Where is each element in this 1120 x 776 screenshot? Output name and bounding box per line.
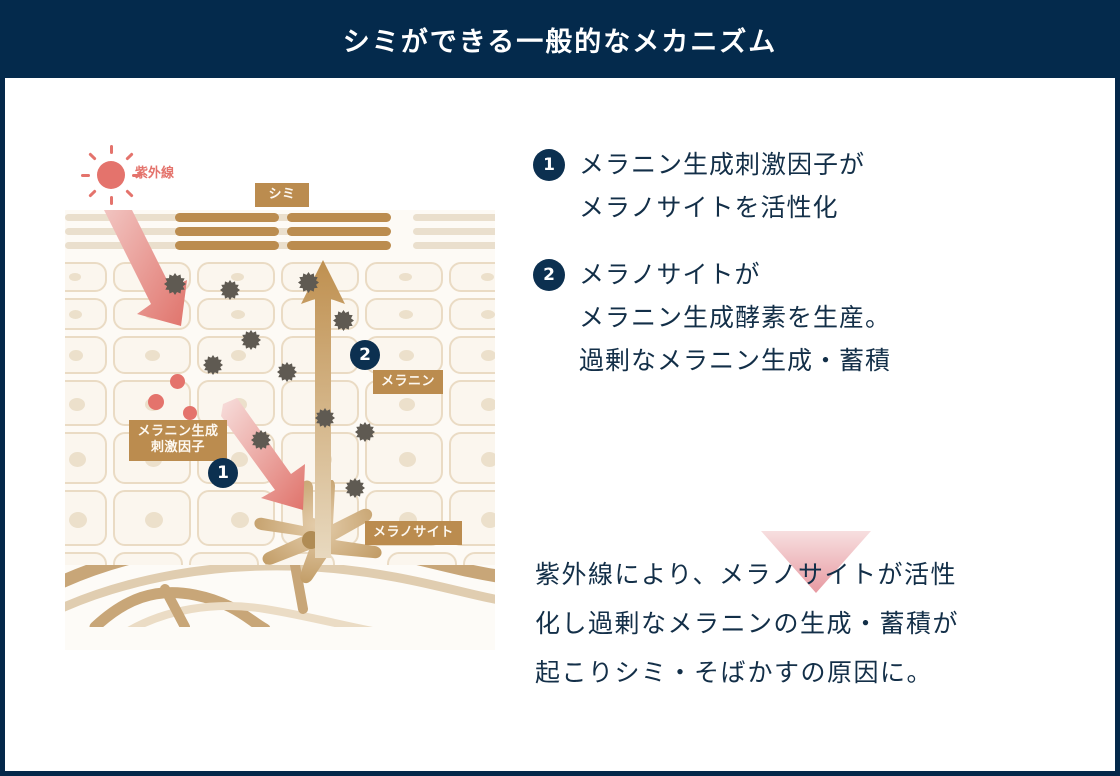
sun-icon	[81, 145, 141, 205]
melanin-granule	[345, 478, 365, 498]
melanin-granule	[164, 273, 186, 295]
pigment-band	[287, 213, 391, 222]
pigment-band	[287, 227, 391, 236]
tag-melanocyte: メラノサイト	[365, 521, 462, 545]
step-badge-2: 2	[533, 259, 565, 291]
melanin-granule	[333, 310, 354, 331]
page-content: 紫外線 シミ	[5, 83, 1115, 771]
skin-cross-section: 2 メラニン メラノサイト メラニン生成 刺激因子 1	[65, 210, 495, 650]
skin-diagram: 紫外線 シミ	[65, 135, 495, 650]
pigment-band	[287, 241, 391, 250]
step-line: メラニン生成刺激因子が	[579, 143, 865, 186]
step-line: メラニン生成酵素を生産。	[579, 296, 891, 339]
melanin-granule	[355, 422, 375, 442]
step-item: 2 メラノサイトが メラニン生成酵素を生産。 過剰なメラニン生成・蓄積	[533, 253, 1073, 382]
infographic-page: シミができる一般的なメカニズム 紫外線 シミ	[0, 0, 1120, 776]
step-text-2: メラノサイトが メラニン生成酵素を生産。 過剰なメラニン生成・蓄積	[579, 253, 891, 382]
step-line: 過剰なメラニン生成・蓄積	[579, 339, 891, 382]
conclusion-line: 化し過剰なメラニンの生成・蓄積が	[535, 600, 1075, 649]
melanin-granule	[298, 272, 319, 293]
steps-list: 1 メラニン生成刺激因子が メラノサイトを活性化 2 メラノサイトが メラニン生…	[533, 143, 1073, 406]
tag-melanin: メラニン	[373, 370, 443, 394]
melanin-granule	[220, 280, 240, 300]
step-item: 1 メラニン生成刺激因子が メラノサイトを活性化	[533, 143, 1073, 229]
diagram-badge-1: 1	[208, 458, 238, 488]
melanin-granule	[251, 430, 271, 450]
melanin-granule	[241, 330, 261, 350]
melanin-granule	[277, 362, 297, 382]
factor-dot	[148, 394, 164, 410]
step-line: メラノサイトが	[579, 253, 891, 296]
page-header: シミができる一般的なメカニズム	[0, 0, 1120, 78]
diagram-badge-2: 2	[350, 340, 380, 370]
step-line: メラノサイトを活性化	[579, 186, 865, 229]
page-title: シミができる一般的なメカニズム	[343, 20, 777, 59]
uv-label: 紫外線	[135, 162, 174, 181]
conclusion-line: 紫外線により、メラノサイトが活性	[535, 551, 1075, 600]
conclusion-line: 起こりシミ・そばかすの原因に。	[535, 649, 1075, 698]
sun-core	[97, 161, 125, 189]
step-badge-1: 1	[533, 149, 565, 181]
conclusion-text: 紫外線により、メラノサイトが活性 化し過剰なメラニンの生成・蓄積が 起こりシミ・…	[535, 551, 1075, 697]
tag-shimi: シミ	[255, 183, 309, 207]
melanin-granule	[315, 408, 335, 428]
tag-melanin-factor: メラニン生成 刺激因子	[129, 420, 227, 461]
melanin-granule	[203, 355, 223, 375]
factor-dot	[183, 406, 197, 420]
factor-dot	[170, 374, 185, 389]
step-text-1: メラニン生成刺激因子が メラノサイトを活性化	[579, 143, 865, 229]
